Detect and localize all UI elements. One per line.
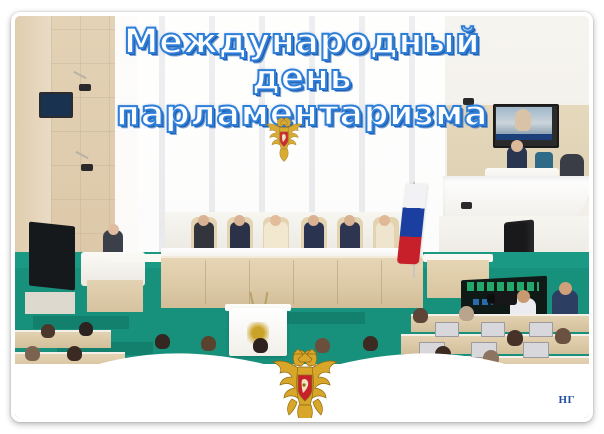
russian-coat-of-arms — [268, 349, 342, 418]
greeting-card: Международный день парламентаризма НГ — [0, 0, 604, 434]
presidium-member — [194, 222, 214, 250]
presidium-member-head — [234, 215, 245, 226]
watermark: НГ — [558, 394, 575, 406]
card-title: Международный день парламентаризма — [15, 26, 589, 132]
presidium-member-head — [308, 215, 319, 226]
table-panel-line — [381, 260, 382, 304]
presidium-member — [340, 222, 360, 250]
wall-camera-icon-2 — [81, 164, 93, 171]
photo-frame: Международный день парламентаризма НГ — [11, 12, 593, 422]
left-rostrum-person-head — [108, 224, 119, 235]
presidium-member — [230, 222, 250, 250]
photographer-head — [517, 290, 530, 303]
presidium-member-head — [270, 215, 281, 226]
table-panel-line — [293, 260, 294, 304]
title-line-2: день — [15, 62, 589, 96]
table-panel-line — [337, 260, 338, 304]
title-line-1: Международный — [15, 26, 589, 60]
table-panel-line — [205, 260, 206, 304]
standing-man-head — [559, 282, 572, 295]
tv-caption-bar — [496, 134, 552, 140]
display-board-text — [467, 282, 539, 291]
presidium-member-head — [344, 215, 355, 226]
balcony-speaker-head — [511, 140, 523, 152]
wall-camera-icon-4 — [461, 202, 472, 209]
presidium-member — [376, 222, 394, 250]
presidium-table — [161, 256, 423, 308]
chamber-photo: Международный день парламентаризма НГ — [15, 16, 589, 418]
russian-coat-of-arms-small — [258, 117, 310, 165]
presidium-member — [264, 222, 288, 250]
presidium-member-head — [379, 215, 390, 226]
presidium-member — [304, 222, 324, 250]
presidium-member-head — [198, 215, 209, 226]
left-display-screen — [29, 222, 75, 291]
camera-lens-icon — [487, 294, 495, 303]
